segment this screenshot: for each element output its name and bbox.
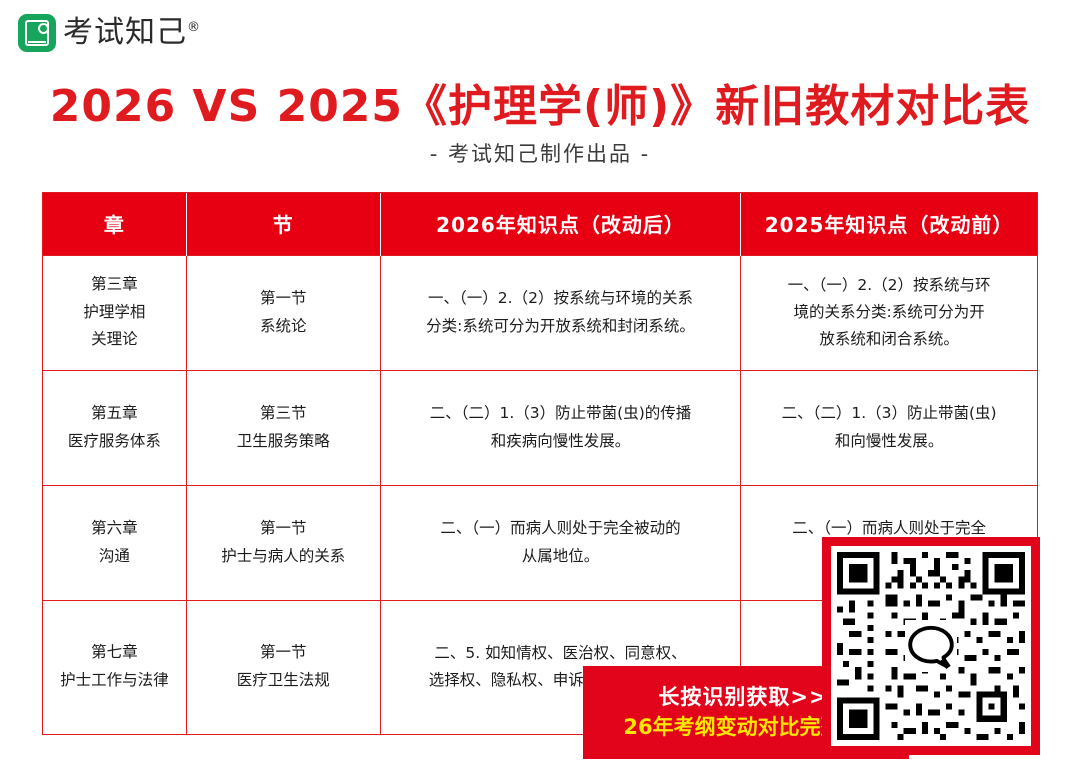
column-header-old-2025: 2025年知识点（改动前） bbox=[741, 193, 1037, 255]
cell-new-2026: 二、（二）1.（3）防止带菌(虫)的传播 和疾病向慢性发展。 bbox=[380, 370, 740, 485]
chat-bubble-icon bbox=[905, 620, 957, 672]
promo-overlay: 长按识别获取>> 26年考纲变动对比完整版 bbox=[583, 537, 1040, 759]
page-subtitle: - 考试知己制作出品 - bbox=[0, 138, 1080, 168]
cell-section: 第三节 卫生服务策略 bbox=[186, 370, 380, 485]
cell-section: 第一节 护士与病人的关系 bbox=[186, 485, 380, 600]
cell-chapter: 第五章 医疗服务体系 bbox=[43, 370, 186, 485]
column-header-chapter: 章 bbox=[43, 193, 186, 255]
cell-chapter: 第六章 沟通 bbox=[43, 485, 186, 600]
cell-new-2026: 一、（一）2.（2）按系统与环境的关系 分类:系统可分为开放系统和封闭系统。 bbox=[380, 255, 740, 370]
promo-banner-line1: 长按识别获取>> bbox=[658, 684, 827, 711]
book-person-logo-icon bbox=[18, 14, 56, 52]
page-title: 2026 VS 2025《护理学(师)》新旧教材对比表 bbox=[0, 70, 1080, 134]
cell-section: 第一节 系统论 bbox=[186, 255, 380, 370]
cell-chapter: 第三章 护理学相 关理论 bbox=[43, 255, 186, 370]
table-row: 第三章 护理学相 关理论 第一节 系统论 一、（一）2.（2）按系统与环境的关系… bbox=[43, 255, 1037, 370]
brand-name-text: 考试知己 bbox=[63, 15, 187, 50]
brand-name: 考试知己® bbox=[63, 14, 201, 52]
registered-mark: ® bbox=[187, 20, 201, 35]
column-header-section: 节 bbox=[186, 193, 380, 255]
table-header: 章 节 2026年知识点（改动后） 2025年知识点（改动前） bbox=[43, 193, 1037, 255]
brand-logo: 考试知己® bbox=[18, 14, 201, 58]
qr-code-icon[interactable] bbox=[822, 537, 1040, 755]
cell-section: 第一节 医疗卫生法规 bbox=[186, 600, 380, 734]
cell-chapter: 第七章 护士工作与法律 bbox=[43, 600, 186, 734]
cell-old-2025: 二、（二）1.（3）防止带菌(虫) 和向慢性发展。 bbox=[741, 370, 1037, 485]
table-row: 第五章 医疗服务体系 第三节 卫生服务策略 二、（二）1.（3）防止带菌(虫)的… bbox=[43, 370, 1037, 485]
cell-old-2025: 一、（一）2.（2）按系统与环 境的关系分类:系统可分为开 放系统和闭合系统。 bbox=[741, 255, 1037, 370]
table-header-row: 章 节 2026年知识点（改动后） 2025年知识点（改动前） bbox=[43, 193, 1037, 255]
column-header-new-2026: 2026年知识点（改动后） bbox=[380, 193, 740, 255]
